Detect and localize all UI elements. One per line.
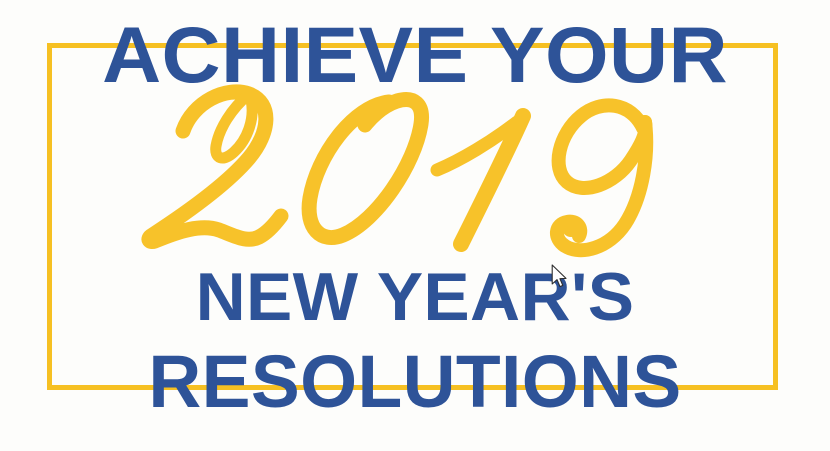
headline-line-resolutions: RESOLUTIONS [4,345,826,419]
year-script-2019: 2019 [131,76,701,266]
poster-canvas: ACHIEVE YOUR 2019 NEW YEAR'S [0,0,830,451]
headline-line-new-years: NEW YEAR'S [0,263,830,331]
